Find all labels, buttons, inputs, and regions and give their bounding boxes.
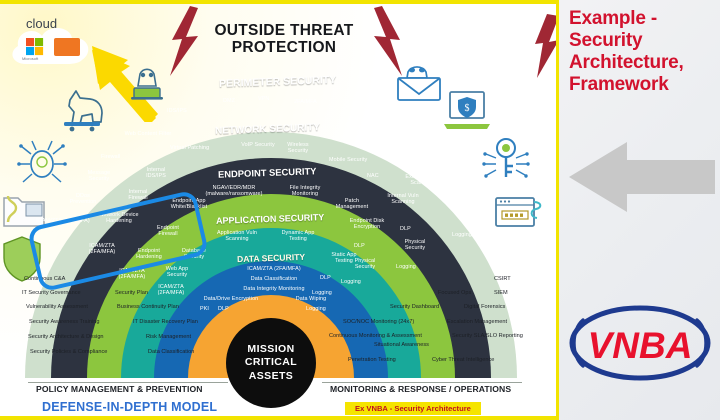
policy-item-policies-compliance: Security Policies & Compliance <box>30 349 107 355</box>
aws-logo-icon: aws <box>54 38 80 56</box>
operations-band-title: MONITORING & RESPONSE / OPERATIONS <box>330 384 511 394</box>
ops-item-security-dashboard: Security Dashboard <box>390 304 439 310</box>
encryption-key-icon <box>482 134 530 186</box>
network-item-physical-security: Physical Security <box>396 239 434 251</box>
network-item-dlp: DLP <box>400 226 411 232</box>
policy-item-risk-management: Risk Management <box>146 334 191 340</box>
application-item-vuln-scanning: Application Vuln Scanning <box>213 230 261 242</box>
ops-item-focused-ops: Focused Ops <box>438 290 471 296</box>
ops-item-siem: SIEM <box>494 290 508 296</box>
ransomware-folder-icon <box>0 188 48 232</box>
ring-title-perimeter: PERIMETER SECURITY <box>219 74 337 90</box>
data-item-drive-encryption: Data/Drive Encryption <box>196 296 266 302</box>
ops-item-penetration-testing: Penetration Testing <box>348 357 396 363</box>
hacker-icon <box>124 58 170 104</box>
vnba-logo-text: VNBA <box>588 325 693 366</box>
endpoint-item-dlp: DLP <box>354 243 365 249</box>
endpoint-item-logging: Logging <box>341 279 361 285</box>
ops-item-situational-awareness: Situational Awareness <box>374 342 429 348</box>
application-item-dlp: DLP <box>320 275 331 281</box>
endpoint-item-endpoint-firewall: Endpoint Firewall <box>148 225 188 237</box>
ops-item-soc-noc-monitoring: SOC/NOC Monitoring (24x7) <box>343 319 414 325</box>
data-item-logging: Logging <box>306 306 326 312</box>
network-item-icam-zta: ICAM/ZTA (2FA/MFA) <box>76 243 128 255</box>
microsoft-logo-icon <box>26 38 44 56</box>
application-item-web-app-security: Web App Security <box>159 266 195 278</box>
defense-in-depth-label: DEFENSE-IN-DEPTH MODEL <box>42 400 217 414</box>
endpoint-item-ngav-edr-mdr: NGAV/EDR/MDR (malware/ransomware) <box>203 185 265 197</box>
ops-item-escalation-management: Escalation Management <box>447 319 507 325</box>
perimeter-item-message-security: Message Security <box>79 170 119 182</box>
endpoint-item-icam-zta: ICAM/ZTA (2FA/MFA) <box>106 268 158 280</box>
perimeter-item-physical-security: Physical Security <box>446 202 486 214</box>
endpoint-item-disk-encryption: Endpoint Disk Encryption <box>345 218 389 230</box>
network-item-mobile-security: Mobile Security <box>329 157 367 163</box>
slide-side-panel: Example - Security Architecture, Framewo… <box>559 0 720 420</box>
network-item-nac: NAC <box>367 173 379 179</box>
network-item-internal-vuln-scanning: Internal Vuln Scanning <box>385 193 421 205</box>
policy-item-business-continuity-plan: Business Continuity Plan <box>117 304 179 310</box>
slide-title: Example - Security Architecture, Framewo… <box>569 8 719 96</box>
network-item-logging: Logging <box>396 264 416 270</box>
ops-item-continuous-monitoring: Continuous Monitoring & Assessment <box>329 333 422 339</box>
divider-right <box>322 382 522 383</box>
policy-item-awareness-training: Security Awareness Training <box>29 319 99 325</box>
divider-left <box>28 382 228 383</box>
network-item-wireless-security: Wireless Security <box>279 142 317 154</box>
perimeter-item-2fa-mfa: 2FA/MFA <box>294 99 317 105</box>
endpoint-item-app-whitelist: Endpoint App White/Blacklist <box>163 198 215 210</box>
network-item-virtual-patching: Virtual Patching <box>170 145 209 151</box>
network-item-internal-firewall: Internal Firewall <box>120 189 156 201</box>
policy-item-security-plan: Security Plan <box>115 290 148 296</box>
left-arrow-icon <box>567 140 715 214</box>
data-item-wiping: Data Wiping <box>286 296 336 302</box>
perimeter-item-ids-ips: IDS/IPS <box>167 108 187 114</box>
endpoint-item-file-integrity-monitoring: File Integrity Monitoring <box>283 185 327 197</box>
vnba-logo: VNBA <box>565 300 715 386</box>
perimeter-item-icam-zta: ICAM/ZTA (2FA/MFA) <box>35 218 91 224</box>
lightning-bolt-icon <box>535 14 559 80</box>
microsoft-caption: Microsoft <box>22 56 38 61</box>
ops-item-csirt: CSIRT <box>494 276 511 282</box>
application-item-static-app-testing: Static App Testing <box>326 252 362 264</box>
perimeter-item-dmz: DMZ <box>223 98 235 104</box>
perimeter-item-dlp: DLP <box>436 182 447 188</box>
data-item-icam-zta: ICAM/ZTA (2FA/MFA) <box>228 266 320 272</box>
perimeter-item-honeypot: Honeypot <box>371 131 395 137</box>
endpoint-item-endpoint-hardening: Endpoint Hardening <box>128 248 170 260</box>
policy-item-disaster-recovery: IT Disaster Recovery Plan <box>133 319 198 325</box>
network-item-network-device-hardening: Network Device Hardening <box>99 212 139 224</box>
application-item-icam-zta: ICAM/ZTA (2FA/MFA) <box>148 284 194 296</box>
policy-item-data-classification: Data Classification <box>148 349 194 355</box>
ops-item-sla-slo-reporting: Security SLA/SLO Reporting <box>452 333 523 339</box>
network-item-voip-security: VoIP Security <box>240 142 276 148</box>
perimeter-item-logging: Logging <box>452 232 472 238</box>
data-item-integrity-monitoring: Data Integrity Monitoring <box>228 286 320 292</box>
policy-item-governance: IT Security Governance <box>22 290 81 296</box>
perimeter-item-ddos-prevention: DDos Prevention <box>62 193 104 205</box>
mission-critical-assets-core[interactable]: MISSION CRITICAL ASSETS <box>226 318 316 408</box>
ops-item-cyber-threat-intelligence: Cyber Threat Intelligence <box>432 357 494 363</box>
policy-item-continuous-ca: Continuous C&A <box>24 276 65 282</box>
perimeter-item-firewall: Firewall <box>101 154 120 160</box>
svg-text:$: $ <box>465 103 470 114</box>
data-item-dlp: DLP <box>218 306 229 312</box>
screenshot-root: cloud Microsoft aws <box>0 0 720 420</box>
endpoint-item-patch-management: Patch Management <box>333 198 371 210</box>
security-architecture-poster: cloud Microsoft aws <box>0 0 559 420</box>
policy-item-architecture-design: Security Architecture & Design <box>28 334 104 340</box>
policy-item-vulnerability-assessment: Vulnerability Assessment <box>26 304 88 310</box>
perimeter-item-vpn: VPN <box>258 96 269 102</box>
cloud-label: cloud <box>26 16 57 31</box>
virus-bug-icon <box>16 138 68 186</box>
policy-band-title: POLICY MANAGEMENT & PREVENTION <box>36 384 203 394</box>
trojan-horse-icon <box>56 88 108 132</box>
password-field-icon <box>492 192 544 234</box>
example-badge: Ex VNBA - Security Architecture <box>345 402 481 415</box>
page-title: OUTSIDE THREAT PROTECTION <box>186 22 382 57</box>
perimeter-item-web-content-filter: Web Content Filter <box>123 131 173 137</box>
secure-laptop-icon: $ <box>440 88 494 132</box>
data-item-pki: PKI <box>200 306 209 312</box>
application-item-dynamic-app-testing: Dynamic App Testing <box>277 230 319 242</box>
ops-item-digital-forensics: Digital Forensics <box>464 304 505 310</box>
network-item-internal-ids-ips: Internal IDS/IPS <box>140 167 172 179</box>
perimeter-item-waf: WAF <box>348 116 360 122</box>
data-item-classification: Data Classification <box>235 276 313 282</box>
application-item-database-security: Database Security <box>175 248 213 260</box>
